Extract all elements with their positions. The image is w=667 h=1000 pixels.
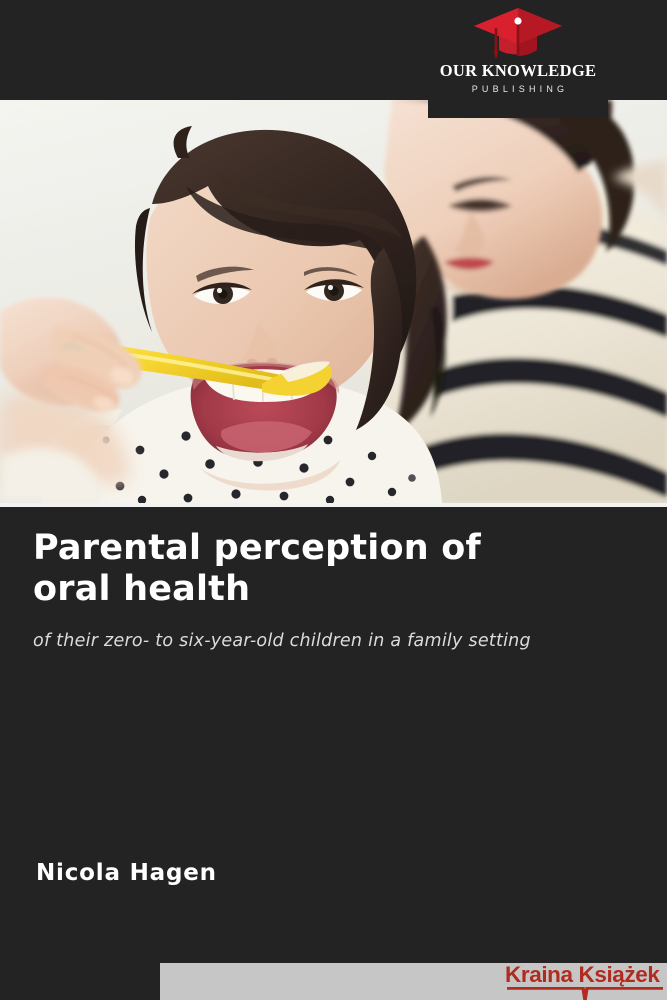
book-subtitle: of their zero- to six-year-old children … (33, 609, 633, 652)
book-cover: OUR KNOWLEDGE PUBLISHING Parental percep… (0, 0, 667, 1000)
watermark-text: Kraina Książek (505, 963, 667, 987)
book-title: Parental perception of oral health (33, 528, 633, 609)
graduation-cap-icon (472, 6, 564, 62)
photo-bottom-rule (0, 503, 667, 507)
photo-illustration (0, 100, 667, 503)
author-name: Nicola Hagen (36, 860, 217, 886)
title-block: Parental perception of oral health of th… (33, 528, 633, 652)
publisher-subtitle: PUBLISHING (468, 85, 569, 94)
kraina-ksiazek-watermark: Kraina Książek (505, 963, 667, 1000)
publisher-name: OUR KNOWLEDGE (440, 63, 597, 80)
publisher-logo: OUR KNOWLEDGE PUBLISHING (428, 0, 608, 118)
open-book-icon (505, 987, 667, 1000)
cover-photograph (0, 100, 667, 503)
